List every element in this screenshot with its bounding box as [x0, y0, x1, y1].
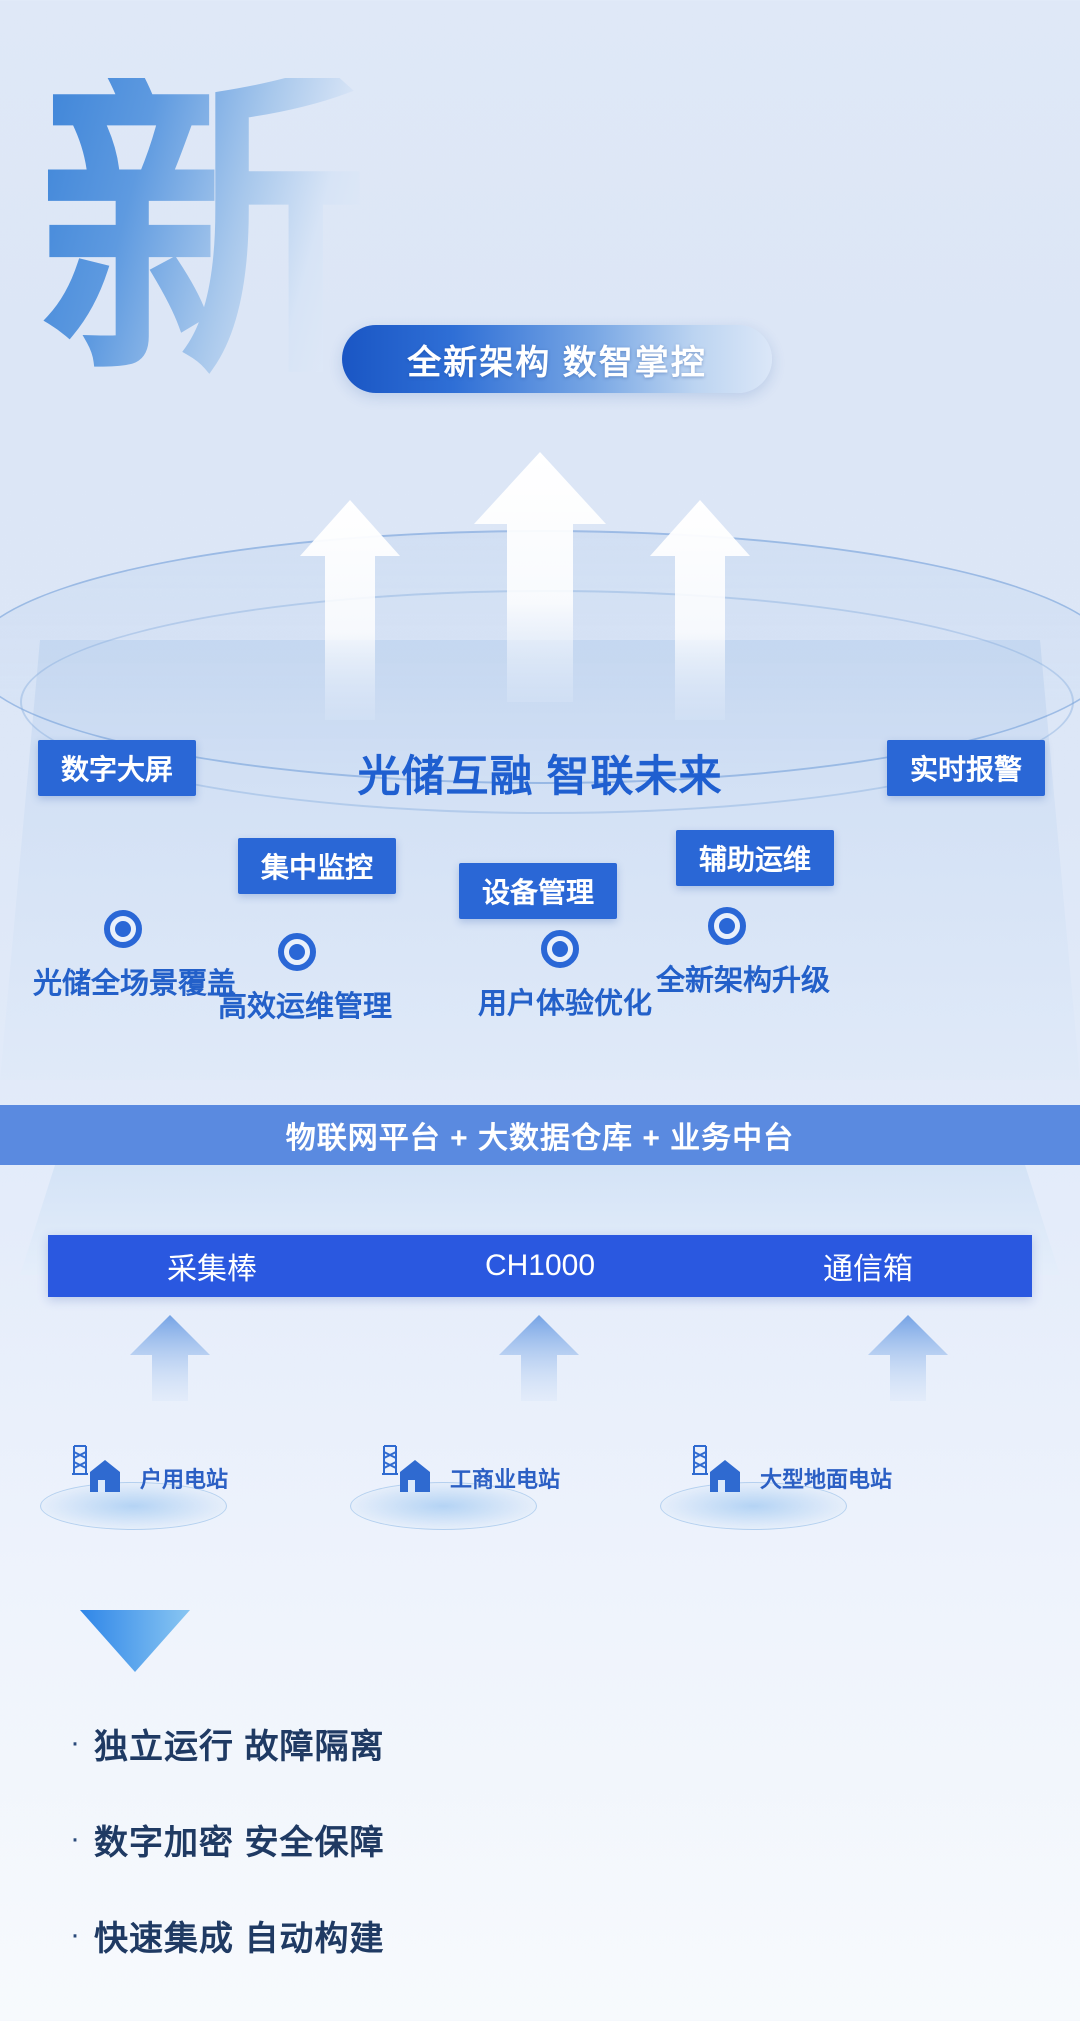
growth-arrow-right-icon [650, 500, 750, 720]
bullet-marker-icon-3 [541, 930, 579, 968]
feature-label-fast-integration: 快速集成 自动构建 [94, 1911, 384, 1960]
bullet-marker-icon-4 [708, 907, 746, 945]
upward-flow-arrow-center-icon [499, 1315, 579, 1406]
feature-row: · 快速集成 自动构建 [70, 1887, 384, 1983]
hero-section: 新 全新架构 数智掌控 [0, 0, 1080, 470]
station-residential: 户用电站 [20, 1430, 350, 1540]
station-label-residential: 户用电站 [140, 1462, 228, 1494]
platform-overview-section: 光储互融 智联未来 数字大屏 实时报警 集中监控 设备管理 辅助运维 光储全场景… [0, 470, 1080, 1100]
station-label-utility-ground: 大型地面电站 [760, 1462, 892, 1494]
bullet-label-ux-optimization: 用户体验优化 [478, 980, 652, 1022]
growth-arrow-left-icon [300, 500, 400, 720]
features-list: · 独立运行 故障隔离 · 数字加密 安全保障 · 快速集成 自动构建 [70, 1695, 384, 1983]
bullet-label-full-scene-coverage: 光储全场景覆盖 [33, 960, 236, 1002]
device-item-communication-box[interactable]: 通信箱 [704, 1244, 1032, 1288]
feature-bullet-icon: · [70, 1824, 80, 1854]
hero-big-character: 新 [38, 78, 368, 378]
features-section: · 独立运行 故障隔离 · 数字加密 安全保障 · 快速集成 自动构建 [0, 1560, 1080, 2021]
feature-label-independent-run: 独立运行 故障隔离 [94, 1719, 384, 1768]
platform-capability-bar: 物联网平台 + 大数据仓库 + 业务中台 [0, 1105, 1080, 1165]
upward-flow-arrow-right-icon [868, 1315, 948, 1406]
feature-row: · 数字加密 安全保障 [70, 1791, 384, 1887]
tag-realtime-alarm[interactable]: 实时报警 [887, 740, 1045, 796]
feature-bullet-icon: · [70, 1920, 80, 1950]
device-bar: 采集棒 CH1000 通信箱 [48, 1235, 1032, 1297]
growth-arrow-center-icon [474, 452, 606, 702]
device-item-collector-stick[interactable]: 采集棒 [48, 1244, 376, 1288]
station-commercial: 工商业电站 [330, 1430, 660, 1540]
device-item-ch1000[interactable]: CH1000 [376, 1249, 704, 1283]
platform-capability-label: 物联网平台 + 大数据仓库 + 业务中台 [286, 1113, 794, 1157]
bullet-label-architecture-upgrade: 全新架构升级 [656, 957, 830, 999]
tag-central-monitor[interactable]: 集中监控 [238, 838, 396, 894]
bullet-marker-icon-1 [104, 910, 142, 948]
upward-flow-arrow-left-icon [130, 1315, 210, 1406]
hero-title-text: 全新架构 数智掌控 [407, 335, 706, 384]
downward-triangle-icon [80, 1610, 190, 1677]
power-station-icon [60, 1444, 122, 1499]
station-utility-ground: 大型地面电站 [640, 1430, 970, 1540]
bullet-label-efficient-om: 高效运维管理 [218, 983, 392, 1025]
power-station-icon [680, 1444, 742, 1499]
tag-device-management[interactable]: 设备管理 [459, 863, 617, 919]
power-station-icon [370, 1444, 432, 1499]
tag-assisted-om[interactable]: 辅助运维 [676, 830, 834, 886]
bullet-marker-icon-2 [278, 933, 316, 971]
device-layer-section: 采集棒 CH1000 通信箱 [0, 1165, 1080, 1495]
feature-label-encryption: 数字加密 安全保障 [94, 1815, 384, 1864]
tag-digital-screen[interactable]: 数字大屏 [38, 740, 196, 796]
hero-title-banner: 全新架构 数智掌控 [342, 325, 772, 393]
feature-row: · 独立运行 故障隔离 [70, 1695, 384, 1791]
feature-bullet-icon: · [70, 1728, 80, 1758]
station-label-commercial: 工商业电站 [450, 1462, 560, 1494]
